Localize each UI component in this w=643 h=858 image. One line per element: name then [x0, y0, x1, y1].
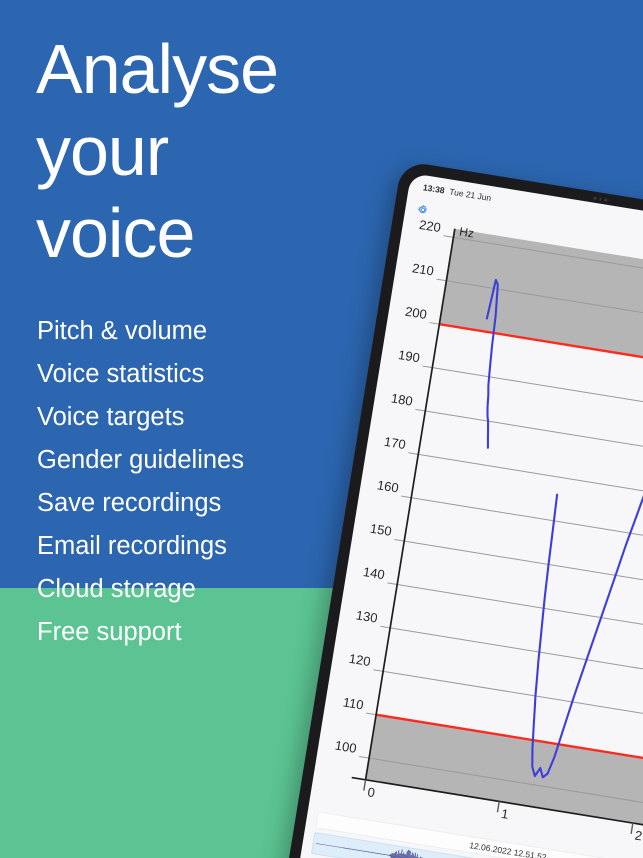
gridline-y [408, 453, 643, 511]
status-date: Tue 21 Jun [449, 186, 492, 203]
feature-item: Gender guidelines [37, 439, 244, 482]
feature-item: Free support [37, 611, 244, 654]
y-tick-label: 200 [404, 304, 428, 322]
gear-icon [417, 204, 430, 217]
page-title: Analyse your voice [36, 28, 278, 274]
gridline-y [387, 583, 643, 641]
feature-item: Cloud storage [37, 568, 244, 611]
y-tick-label: 160 [376, 477, 400, 495]
x-tick [364, 780, 366, 791]
status-time: 13:38 [422, 182, 445, 195]
feature-item: Email recordings [37, 525, 244, 568]
feature-item: Save recordings [37, 482, 244, 525]
feature-item: Pitch & volume [37, 310, 244, 353]
y-tick-label: 190 [397, 347, 421, 365]
y-tick-label: 170 [383, 434, 407, 452]
x-tick-label: 2 [634, 828, 643, 844]
x-tick [497, 801, 499, 812]
feature-list: Pitch & volume Voice statistics Voice ta… [37, 310, 244, 654]
x-tick-label: 0 [366, 784, 376, 800]
gridline-y [373, 670, 643, 728]
feature-item: Voice statistics [37, 353, 244, 396]
feature-item: Voice targets [37, 396, 244, 439]
y-tick-label: 210 [411, 260, 435, 278]
y-tick-label: 100 [334, 738, 358, 756]
gridline-y [401, 496, 643, 554]
y-tick-label: 130 [355, 607, 379, 625]
gridline-y [394, 540, 643, 598]
y-tick-label: 140 [362, 564, 386, 582]
y-tick-label: 150 [369, 521, 393, 539]
x-tick [631, 823, 633, 834]
y-tick-label: 120 [348, 651, 372, 669]
y-tick-label: 110 [342, 694, 365, 712]
gridline-y [422, 366, 643, 424]
y-tick-label: 220 [418, 217, 442, 235]
y-axis-unit-label: Hz [458, 224, 475, 240]
gridline-y [380, 626, 643, 684]
recording-title-text: 12.06.2022 12.51.52 [469, 840, 548, 858]
promo-screenshot: Analyse your voice Pitch & volume Voice … [0, 0, 643, 858]
x-tick-label: 1 [500, 806, 510, 822]
gridline-y [415, 409, 643, 467]
y-tick-label: 180 [390, 391, 414, 409]
